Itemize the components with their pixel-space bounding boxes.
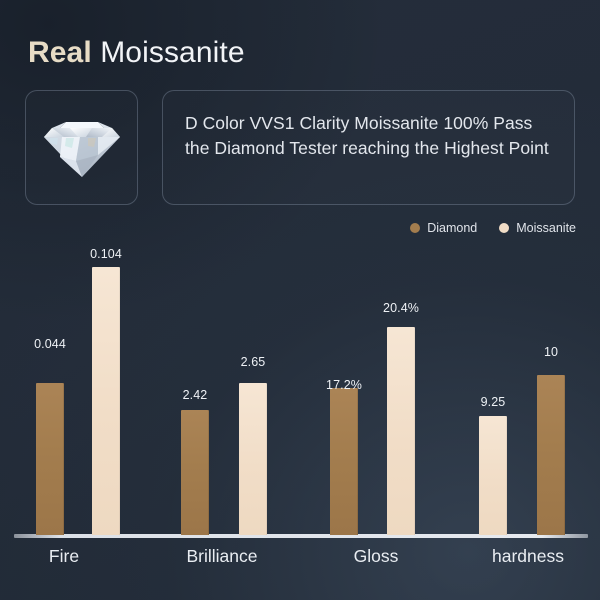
bar-hardness-diamond[interactable]: [537, 375, 565, 535]
info-card-text: D Color VVS1 Clarity Moissanite 100% Pas…: [185, 111, 552, 161]
page-title-main: Moissanite: [100, 36, 244, 69]
bar-value-gloss-diamond: 17.2%: [309, 378, 379, 392]
page-title: Real Moissanite: [28, 38, 245, 68]
legend-label-moissanite: Moissanite: [516, 221, 576, 235]
bar-value-hardness-moissanite: 9.25: [458, 395, 528, 409]
bar-fire-diamond[interactable]: [36, 383, 64, 535]
bar-value-brilliance-diamond: 2.42: [160, 388, 230, 402]
bar-gloss-diamond[interactable]: [330, 388, 358, 535]
bar-hardness-moissanite[interactable]: [479, 416, 507, 535]
legend-item-moissanite[interactable]: Moissanite: [499, 221, 576, 235]
gem-image-card: [25, 90, 138, 205]
page-title-accent: Real: [28, 36, 92, 69]
bar-brilliance-diamond[interactable]: [181, 410, 209, 535]
legend-label-diamond: Diamond: [427, 221, 477, 235]
bar-value-fire-diamond: 0.044: [15, 337, 85, 351]
bar-brilliance-moissanite[interactable]: [239, 383, 267, 535]
legend-item-diamond[interactable]: Diamond: [410, 221, 477, 235]
infographic-root: Real Moissanite: [0, 0, 600, 600]
x-axis-label-brilliance: Brilliance: [132, 546, 312, 567]
bar-value-brilliance-moissanite: 2.65: [218, 355, 288, 369]
bar-value-fire-moissanite: 0.104: [71, 247, 141, 261]
bar-gloss-moissanite[interactable]: [387, 327, 415, 535]
diamond-gem-icon: [36, 117, 128, 179]
bar-value-hardness-diamond: 10: [516, 345, 586, 359]
legend-dot-icon-diamond: [410, 223, 420, 233]
x-axis-label-hardness: hardness: [438, 546, 600, 567]
chart-category-labels: FireBrillianceGlosshardness: [0, 546, 600, 576]
x-axis-label-fire: Fire: [0, 546, 154, 567]
bar-chart: 0.0440.1042.422.6517.2%20.4%9.2510: [0, 248, 600, 538]
bar-value-gloss-moissanite: 20.4%: [366, 301, 436, 315]
info-card: D Color VVS1 Clarity Moissanite 100% Pas…: [162, 90, 575, 205]
chart-legend: Diamond Moissanite: [410, 221, 576, 235]
legend-dot-icon-moissanite: [499, 223, 509, 233]
bar-fire-moissanite[interactable]: [92, 267, 120, 535]
